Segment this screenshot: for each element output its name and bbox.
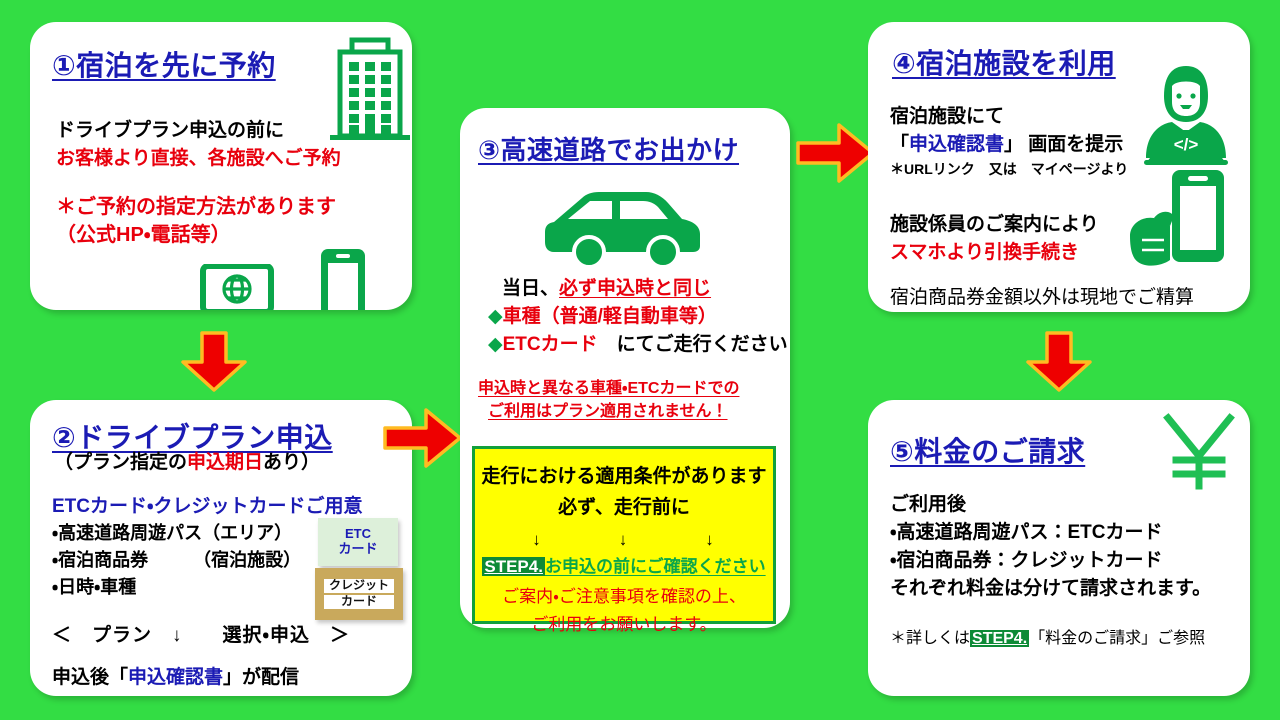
hand-smartphone-icon bbox=[1124, 168, 1240, 278]
panel-4-line-4: 施設係員のご案内により bbox=[890, 212, 1099, 237]
panel-4-line-2: 「申込確認書」 画面を提示 bbox=[890, 132, 1123, 157]
notice-line-2: 必ず、走行前に bbox=[475, 492, 773, 519]
panel-2-sub-red: 申込期日 bbox=[187, 452, 263, 473]
panel-3-warning-line-1: 申込時と異なる車種・ETCカードでの bbox=[478, 378, 739, 399]
panel-4-line-2-post: 」 画面を提示 bbox=[1004, 134, 1123, 155]
notice-down-arrows: ↓ ↓ ↓ bbox=[475, 525, 773, 550]
building-icon bbox=[326, 36, 412, 142]
panel-3-bullet-1-text: 車種（普通/軽自動車等） bbox=[503, 306, 717, 327]
credit-card-line-1: クレジット bbox=[324, 579, 394, 593]
etc-card-chip: ETC カード bbox=[318, 518, 398, 566]
panel-5-reference[interactable]: ＊詳しくはSTEP4.「料金のご請求」ご参照 bbox=[890, 628, 1205, 649]
notice-step-link-text[interactable]: お申込の前にご確認ください bbox=[545, 557, 766, 576]
notice-box: 走行における適用条件があります 必ず、走行前に ↓ ↓ ↓ STEP4.お申込の… bbox=[472, 446, 776, 624]
yen-icon bbox=[1156, 408, 1242, 492]
diamond-bullet-icon-1: ◆ bbox=[488, 306, 503, 327]
etc-card-line-1: ETC bbox=[318, 527, 398, 542]
panel-5-line-4: それぞれ料金は分けて請求されます。 bbox=[890, 576, 1211, 601]
panel-3-bullet-2-suffix: にてご走行ください bbox=[598, 334, 788, 355]
panel-4-line-1: 宿泊施設にて bbox=[890, 104, 1004, 129]
panel-5-line-1: ご利用後 bbox=[890, 492, 966, 517]
diamond-bullet-icon-2: ◆ bbox=[488, 334, 503, 355]
panel-1-line-3: ＊ご予約の指定方法があります bbox=[56, 194, 336, 220]
panel-5-line-3: ・宿泊商品券：クレジットカード bbox=[890, 548, 1162, 573]
panel-2-sub-pre: （プラン指定の bbox=[54, 452, 187, 473]
laptop-globe-icon bbox=[185, 264, 289, 310]
panel-2-flow: ＜ プラン ↓ 選択・申込 ＞ bbox=[52, 623, 350, 648]
panel-3-note-head: 当日、必ず申込時と同じ bbox=[502, 276, 711, 301]
panel-5-heading: ⑤料金のご請求 bbox=[890, 430, 1085, 470]
infographic-canvas: ①宿泊を先に予約 ドライブプラン申込の bbox=[0, 0, 1280, 720]
panel-5-line-2: ・高速道路周遊パス：ETCカード bbox=[890, 520, 1162, 545]
svg-text:</>: </> bbox=[1174, 135, 1199, 154]
arrow-down-4to5 bbox=[1022, 330, 1096, 394]
panel-1-line-2: お客様より直接、各施設へご予約 bbox=[56, 146, 341, 171]
panel-3-note-head-red: 必ず申込時と同じ bbox=[559, 278, 711, 299]
panel-2-item-2: ・日時・車種 bbox=[52, 576, 136, 600]
panel-2-footer-pre: 申込後「 bbox=[52, 667, 128, 688]
panel-4-line-3: ＊URLリンク 又は マイページより bbox=[890, 160, 1128, 178]
panel-2-item-0: ・高速道路周遊パス（エリア） bbox=[52, 522, 292, 546]
arrow-right-3to4 bbox=[795, 120, 877, 186]
panel-1-heading: ①宿泊を先に予約 bbox=[52, 44, 276, 84]
arrow-right-2to3 bbox=[382, 405, 464, 471]
notice-line-4: ご利用をお願いします。 bbox=[475, 610, 773, 635]
panel-2-sub-post: あり） bbox=[263, 452, 320, 473]
etc-card-line-2: カード bbox=[318, 542, 398, 557]
panel-4-line-2-blue: 申込確認書 bbox=[909, 134, 1004, 155]
panel-step-4: ④宿泊施設を利用 </> bbox=[868, 22, 1250, 312]
smartphone-icon bbox=[318, 246, 368, 310]
panel-2-footer: 申込後「申込確認書」が配信 bbox=[52, 665, 299, 690]
panel-4-heading: ④宿泊施設を利用 bbox=[892, 42, 1116, 82]
notice-line-1: 走行における適用条件があります bbox=[475, 461, 773, 488]
panel-2-subheading: （プラン指定の申込期日あり） bbox=[54, 450, 320, 475]
notice-line-3: ご案内・ご注意事項を確認の上、 bbox=[475, 582, 773, 607]
credit-card-chip: クレジット カード bbox=[315, 568, 403, 620]
car-icon bbox=[542, 186, 706, 270]
panel-2-item-1: ・宿泊商品券 （宿泊施設） bbox=[52, 549, 301, 573]
panel-3-bullet-2-text: ETCカード bbox=[503, 334, 598, 355]
panel-4-line-6: 宿泊商品券金額以外は現地でご精算 bbox=[890, 285, 1194, 310]
step4-badge[interactable]: STEP4. bbox=[482, 557, 545, 576]
panel-2-footer-post: 」が配信 bbox=[223, 667, 299, 688]
panel-3-heading: ③高速道路でお出かけ bbox=[478, 130, 739, 167]
panel-4-line-5: スマホより引換手続き bbox=[890, 240, 1079, 265]
panel-step-1: ①宿泊を先に予約 ドライブプラン申込の bbox=[30, 22, 412, 310]
person-laptop-icon: </> bbox=[1132, 60, 1240, 168]
notice-step-link-row[interactable]: STEP4.お申込の前にご確認ください bbox=[475, 552, 773, 577]
panel-3-bullet-2: ◆ETCカード にてご走行ください bbox=[488, 332, 788, 357]
panel-3-warning-line-2: ご利用はプラン適用されません！ bbox=[488, 401, 728, 422]
panel-step-5: ⑤料金のご請求 ご利用後 ・高速道路周遊パス：ETCカード ・宿泊商品券：クレジ… bbox=[868, 400, 1250, 696]
panel-5-ref-post: 「料金のご請求」ご参照 bbox=[1029, 630, 1205, 647]
credit-card-line-2: カード bbox=[324, 595, 394, 609]
arrow-down-1to2 bbox=[177, 330, 251, 394]
panel-5-ref-pre: ＊詳しくは bbox=[890, 630, 970, 647]
panel-2-footer-blue: 申込確認書 bbox=[128, 667, 223, 688]
panel-2-prep-title: ETCカード・クレジットカードご用意 bbox=[52, 494, 362, 519]
panel-3-bullet-1: ◆車種（普通/軽自動車等） bbox=[488, 304, 717, 329]
panel-1-line-4: （公式HP・電話等） bbox=[56, 222, 231, 248]
panel-4-line-2-pre: 「 bbox=[890, 134, 909, 155]
panel-3-note-head-black: 当日、 bbox=[502, 278, 559, 299]
panel-1-line-1: ドライブプラン申込の前に bbox=[56, 118, 284, 143]
step4-badge-panel5[interactable]: STEP4. bbox=[970, 630, 1029, 647]
